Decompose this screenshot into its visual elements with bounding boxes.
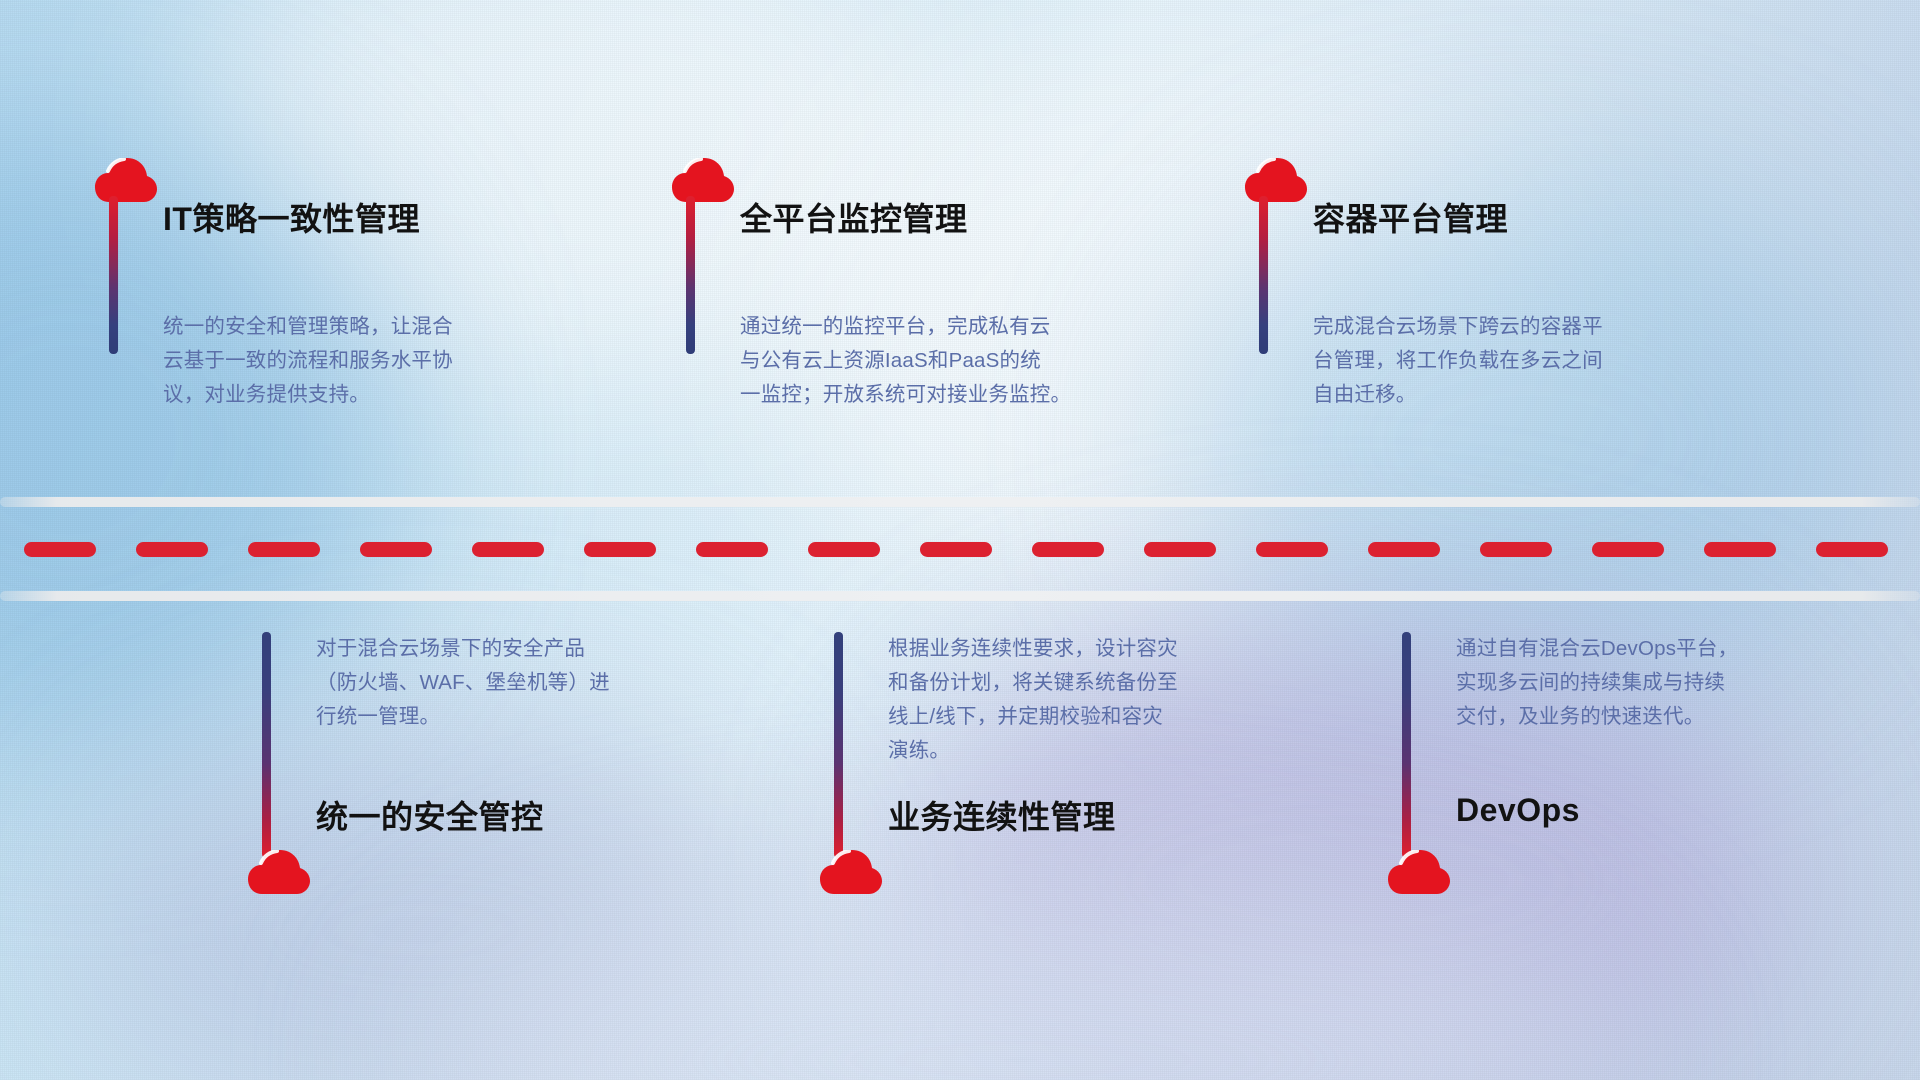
road-dash xyxy=(1368,542,1440,557)
road-edge-bottom xyxy=(0,591,1920,601)
cloud-pin-icon xyxy=(820,850,882,896)
cloud-pin-icon xyxy=(95,158,157,204)
road-dash xyxy=(1032,542,1104,557)
cloud-pin-icon xyxy=(1245,158,1307,204)
item-heading: 业务连续性管理 xyxy=(888,792,1116,838)
road-dash xyxy=(136,542,208,557)
connector-line xyxy=(1259,196,1268,354)
road-dash xyxy=(920,542,992,557)
connector-line xyxy=(686,196,695,354)
road-dash xyxy=(696,542,768,557)
item-heading: DevOps xyxy=(1456,792,1580,829)
road-dash xyxy=(1480,542,1552,557)
connector-line xyxy=(262,632,271,858)
road-dash xyxy=(1816,542,1888,557)
background-gradient xyxy=(0,0,1920,1080)
item-body: 完成混合云场景下跨云的容器平 台管理，将工作负载在多云之间 自由迁移。 xyxy=(1313,310,1603,412)
road-dash xyxy=(248,542,320,557)
item-body: 对于混合云场景下的安全产品 （防火墙、WAF、堡垒机等）进 行统一管理。 xyxy=(316,632,610,734)
item-body: 根据业务连续性要求，设计容灾 和备份计划，将关键系统备份至 线上/线下，并定期校… xyxy=(888,632,1178,768)
connector-line xyxy=(1402,632,1411,858)
road-dash xyxy=(1704,542,1776,557)
item-heading: IT策略一致性管理 xyxy=(163,194,420,240)
cloud-pin-icon xyxy=(1388,850,1450,896)
road-dash xyxy=(360,542,432,557)
item-body: 通过自有混合云DevOps平台， 实现多云间的持续集成与持续 交付，及业务的快速… xyxy=(1456,632,1738,734)
road-dash xyxy=(1592,542,1664,557)
connector-line xyxy=(834,632,843,858)
road-dash xyxy=(584,542,656,557)
road-dash xyxy=(1256,542,1328,557)
connector-line xyxy=(109,196,118,354)
cloud-pin-icon xyxy=(672,158,734,204)
road-dash xyxy=(24,542,96,557)
road-dash xyxy=(472,542,544,557)
item-body: 通过统一的监控平台，完成私有云 与公有云上资源IaaS和PaaS的统 一监控；开… xyxy=(740,310,1071,412)
road-edge-top xyxy=(0,497,1920,507)
road-dashes xyxy=(0,541,1920,557)
infographic-stage: IT策略一致性管理 统一的安全和管理策略，让混合 云基于一致的流程和服务水平协 … xyxy=(0,0,1920,1080)
item-body: 统一的安全和管理策略，让混合 云基于一致的流程和服务水平协 议，对业务提供支持。 xyxy=(163,310,453,412)
item-heading: 全平台监控管理 xyxy=(740,194,968,240)
item-heading: 统一的安全管控 xyxy=(316,792,544,838)
road-dash xyxy=(1144,542,1216,557)
item-heading: 容器平台管理 xyxy=(1313,194,1508,240)
road-dash xyxy=(808,542,880,557)
cloud-pin-icon xyxy=(248,850,310,896)
